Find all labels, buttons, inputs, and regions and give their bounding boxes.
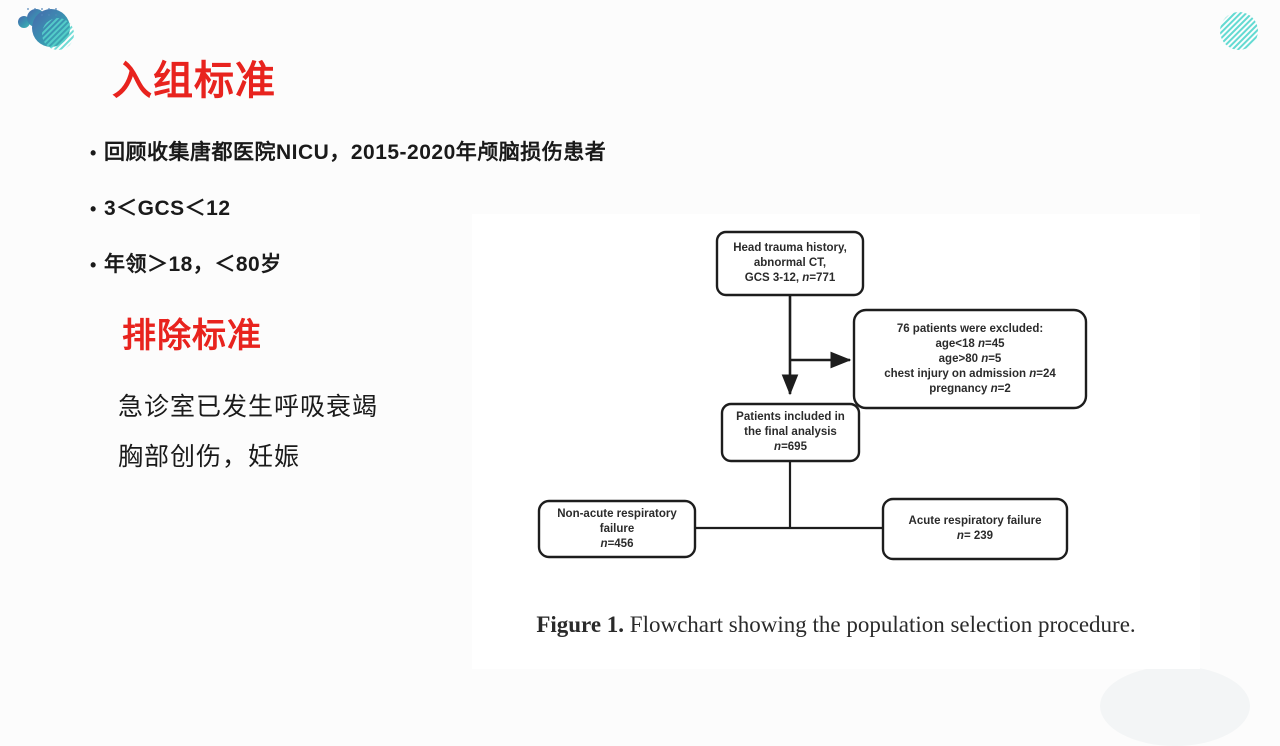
section-title-exclusion-criteria: 排除标准	[122, 308, 262, 357]
list-item-label: 3＜GCS＜12	[104, 192, 231, 222]
exclusion-line: 胸部创伤，妊娠	[118, 432, 378, 482]
flow-box-included-text: Patients included in the final analysis …	[724, 406, 857, 459]
bullet-dot-icon: •	[90, 256, 104, 274]
decoration-bottom-right	[1100, 666, 1250, 746]
bullet-dot-icon: •	[90, 200, 104, 218]
page-title-inclusion-criteria: 入组标准	[112, 48, 276, 106]
figure-caption: Figure 1. Flowchart showing the populati…	[472, 612, 1200, 638]
inclusion-criteria-list: • 回顾收集唐都医院NICU，2015-2020年颅脑损伤患者 • 3＜GCS＜…	[90, 136, 490, 304]
figure-panel: Head trauma history, abnormal CT, GCS 3-…	[472, 214, 1200, 669]
list-item: • 回顾收集唐都医院NICU，2015-2020年颅脑损伤患者	[90, 136, 490, 166]
flow-box-acute-text: Acute respiratory failure n= 239	[885, 501, 1065, 557]
flow-box-excluded-text: 76 patients were excluded: age<18 n=45 a…	[856, 312, 1084, 406]
flowchart-diagram: Head trauma history, abnormal CT, GCS 3-…	[472, 214, 1200, 614]
decoration-top-right	[1216, 8, 1262, 54]
exclusion-criteria-list: 急诊室已发生呼吸衰竭 胸部创伤，妊娠	[118, 382, 378, 482]
list-item: • 年领＞18，＜80岁	[90, 248, 490, 278]
list-item-label: 年领＞18，＜80岁	[104, 248, 282, 278]
list-item: • 3＜GCS＜12	[90, 192, 490, 222]
bullet-dot-icon: •	[90, 144, 104, 162]
exclusion-line: 急诊室已发生呼吸衰竭	[118, 382, 378, 432]
list-item-label: 回顾收集唐都医院NICU，2015-2020年颅脑损伤患者	[104, 136, 606, 166]
left-content-column: 入组标准 • 回顾收集唐都医院NICU，2015-2020年颅脑损伤患者 • 3…	[0, 0, 472, 720]
flow-box-source-text: Head trauma history, abnormal CT, GCS 3-…	[719, 234, 861, 293]
figure-caption-text: Flowchart showing the population selecti…	[624, 612, 1136, 637]
figure-caption-label: Figure 1.	[536, 612, 624, 637]
flow-box-non-acute-text: Non-acute respiratory failure n=456	[541, 503, 693, 555]
